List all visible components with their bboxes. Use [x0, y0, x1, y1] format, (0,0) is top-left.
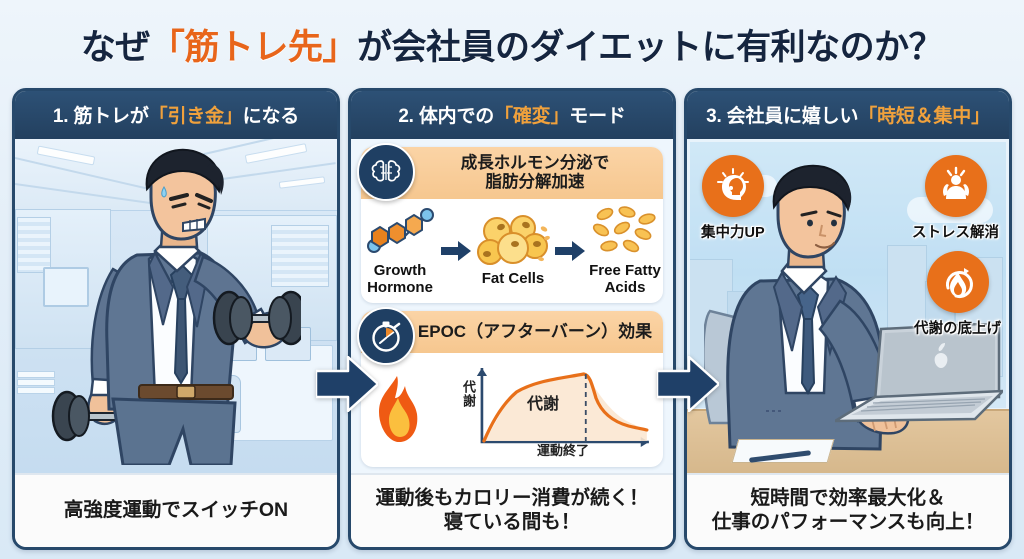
badge-stress-label: ストレス解消: [912, 221, 999, 242]
panel-mechanism: 2. 体内での「確変」モード 成長ホルモン分泌で: [348, 88, 676, 550]
epoc-chart: 代謝 代謝 運動終了: [429, 364, 655, 456]
window-blinds: [17, 217, 51, 273]
panel-benefits: 3. 会社員に嬉しい「時短＆集中」: [684, 88, 1012, 550]
panel-1-title-post: になる: [243, 106, 299, 127]
badge-metabolism: 代謝の底上げ: [914, 251, 1001, 338]
flow-arrow-icon: [441, 240, 471, 262]
panel-3-caption: 短時間で効率最大化＆ 仕事のパフォーマンスも向上！: [687, 473, 1009, 547]
panel-3-title-pre: 会社員に嬉しい: [727, 106, 859, 127]
fatty-acid-droplets-icon: [589, 206, 661, 260]
panel-3-title-highlight: 「時短＆集中」: [858, 106, 990, 127]
page-title-suffix: が会社員のダイエットに有利なのか？: [357, 28, 943, 67]
badge-focus-label: 集中力UP: [701, 221, 765, 242]
flow-arrow-1: [316, 356, 378, 412]
panel-1-title-pre: 筋トレが: [73, 106, 148, 127]
flow-label-free-fatty-acids: Free Fatty Acids: [589, 263, 661, 296]
paper-stack: [17, 387, 55, 394]
page-title-prefix: なぜ: [81, 28, 150, 67]
stress-relief-icon: [925, 155, 987, 217]
panel-3-caption-line1: 短時間で効率最大化＆: [750, 487, 945, 511]
flow-label-growth-hormone: Growth Hormone: [363, 263, 437, 296]
paper-stack: [17, 379, 55, 386]
panels-row: 1. 筋トレが「引き金」になる: [0, 88, 1024, 550]
epoc-chart-area: 代謝 代謝 運動終了: [361, 353, 663, 467]
epoc-annotation-exercise-end: 運動終了: [537, 440, 589, 459]
flow-arrow-icon: [555, 240, 585, 262]
panel-1-caption: 高強度運動でスイッチON: [15, 473, 337, 547]
panel-2-caption-line1: 運動後もカロリー消費が続く！: [375, 487, 648, 511]
page-title-highlight: 「筋トレ先」: [150, 28, 357, 67]
page-title-bar: なぜ「筋トレ先」が会社員のダイエットに有利なのか？: [0, 0, 1024, 88]
growth-hormone-title-line1: 成長ホルモン分泌で: [461, 154, 610, 173]
panel-2-number: 2.: [398, 106, 413, 127]
growth-hormone-flow: Growth Hormone: [361, 199, 663, 303]
brain-icon: [357, 143, 415, 201]
panel-2-caption: 運動後もカロリー消費が続く！ 寝ている間も！: [351, 473, 673, 547]
flow-arrow-2: [657, 356, 719, 412]
panel-2-title-highlight: 「確変」: [494, 106, 569, 127]
panel-3-illustration: 集中力UP ストレス解消: [687, 139, 1009, 473]
panel-1-caption-line: 高強度運動でスイッチON: [64, 499, 288, 523]
paper-stack: [17, 371, 55, 378]
flow-step-free-fatty-acids: Free Fatty Acids: [589, 206, 661, 296]
epoc-area-label: 代謝: [527, 390, 559, 414]
badge-stress: ストレス解消: [912, 155, 999, 242]
panel-1-header: 1. 筋トレが「引き金」になる: [15, 91, 337, 139]
panel-2-content: 成長ホルモン分泌で 脂肪分解加速: [351, 139, 673, 473]
badge-focus: 集中力UP: [701, 155, 765, 242]
businessman-lifting-dumbbells: [51, 147, 301, 465]
molecule-icon: [363, 206, 437, 260]
city-office-scene: 集中力UP ストレス解消: [687, 139, 1009, 473]
panel-2-header: 2. 体内での「確変」モード: [351, 91, 673, 139]
panel-1-number: 1.: [53, 106, 68, 127]
flame-cycle-icon: [927, 251, 989, 313]
growth-hormone-card: 成長ホルモン分泌で 脂肪分解加速: [361, 147, 663, 303]
panel-2-title-post: モード: [569, 106, 625, 127]
epoc-title-line1: EPOC（アフターバーン）効果: [418, 322, 652, 342]
fat-cells-icon: [475, 214, 551, 268]
mechanism-cards: 成長ホルモン分泌で 脂肪分解加速: [351, 139, 673, 473]
epoc-y-axis-label: 代謝: [459, 380, 478, 408]
panel-2-title-pre: 体内での: [419, 106, 494, 127]
badge-metabolism-label: 代謝の底上げ: [914, 317, 1001, 338]
panel-3-header: 3. 会社員に嬉しい「時短＆集中」: [687, 91, 1009, 139]
flow-label-fat-cells: Fat Cells: [482, 271, 545, 288]
flow-step-fat-cells: Fat Cells: [475, 214, 551, 288]
page-title: なぜ「筋トレ先」が会社員のダイエットに有利なのか？: [81, 19, 943, 70]
office-scene: [15, 139, 337, 473]
paper-on-desk: [732, 439, 835, 463]
laptop[interactable]: [835, 323, 1003, 427]
flow-step-growth-hormone: Growth Hormone: [363, 206, 437, 296]
panel-1-illustration: [15, 139, 337, 473]
panel-3-number: 3.: [706, 106, 721, 127]
panel-trigger: 1. 筋トレが「引き金」になる: [12, 88, 340, 550]
head-lightbulb-icon: [702, 155, 764, 217]
panel-2-caption-line2: 寝ている間も！: [444, 511, 581, 535]
epoc-card: EPOC（アフターバーン）効果: [361, 311, 663, 467]
growth-hormone-title-line2: 脂肪分解加速: [461, 173, 610, 192]
panel-1-title-highlight: 「引き金」: [149, 106, 243, 127]
panel-3-caption-line2: 仕事のパフォーマンスも向上！: [712, 511, 985, 535]
